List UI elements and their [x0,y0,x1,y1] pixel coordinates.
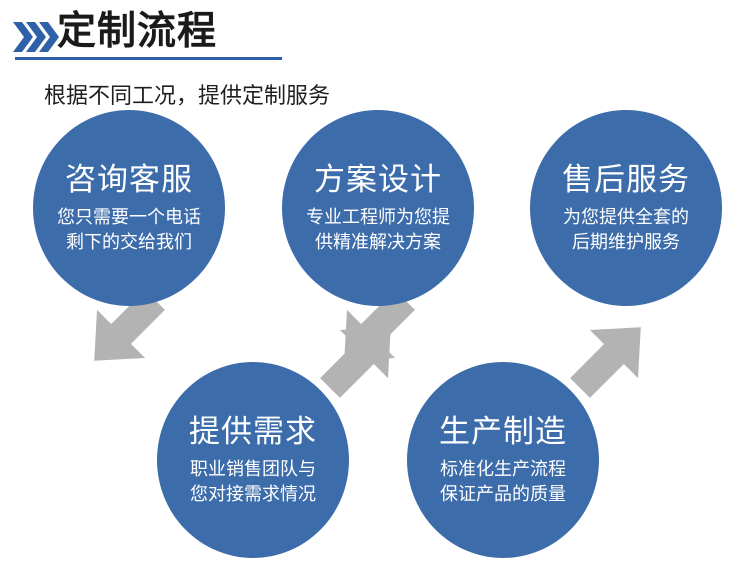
flow-node-scheme-design[interactable]: 方案设计 专业工程师为您提 供精准解决方案 [282,110,474,306]
customization-process-banner: 定制流程 根据不同工况，提供定制服务 咨询客服 [0,0,750,576]
process-flow-diagram: 咨询客服 您只需要一个电话 剩下的交给我们 方案设计 专业工程师为您提 供精准解… [0,0,750,576]
flow-node-production-manufacturing[interactable]: 生产制造 标准化生产流程 保证产品的质量 [407,362,599,558]
flow-node-provide-requirements[interactable]: 提供需求 职业销售团队与 您对接需求情况 [157,362,349,558]
flow-node-title: 售后服务 [562,161,690,199]
flow-node-desc-line1: 职业销售团队与 [190,457,316,482]
flow-node-after-sales-service[interactable]: 售后服务 为您提供全套的 后期维护服务 [530,110,722,306]
flow-node-title: 咨询客服 [65,161,193,199]
flow-node-title: 生产制造 [439,413,567,451]
flow-node-consult-service[interactable]: 咨询客服 您只需要一个电话 剩下的交给我们 [33,110,225,306]
flow-node-title: 方案设计 [314,161,442,199]
flow-node-title: 提供需求 [189,413,317,451]
flow-node-desc-line2: 保证产品的质量 [440,482,566,507]
flow-node-desc-line2: 剩下的交给我们 [66,230,192,255]
flow-node-desc-line1: 标准化生产流程 [440,457,566,482]
flow-node-desc-line1: 专业工程师为您提 [306,205,450,230]
flow-node-desc-line1: 您只需要一个电话 [57,205,201,230]
flow-node-desc-line2: 您对接需求情况 [190,482,316,507]
flow-node-desc-line2: 后期维护服务 [572,230,680,255]
flow-node-desc-line1: 为您提供全套的 [563,205,689,230]
flow-node-desc-line2: 供精准解决方案 [315,230,441,255]
